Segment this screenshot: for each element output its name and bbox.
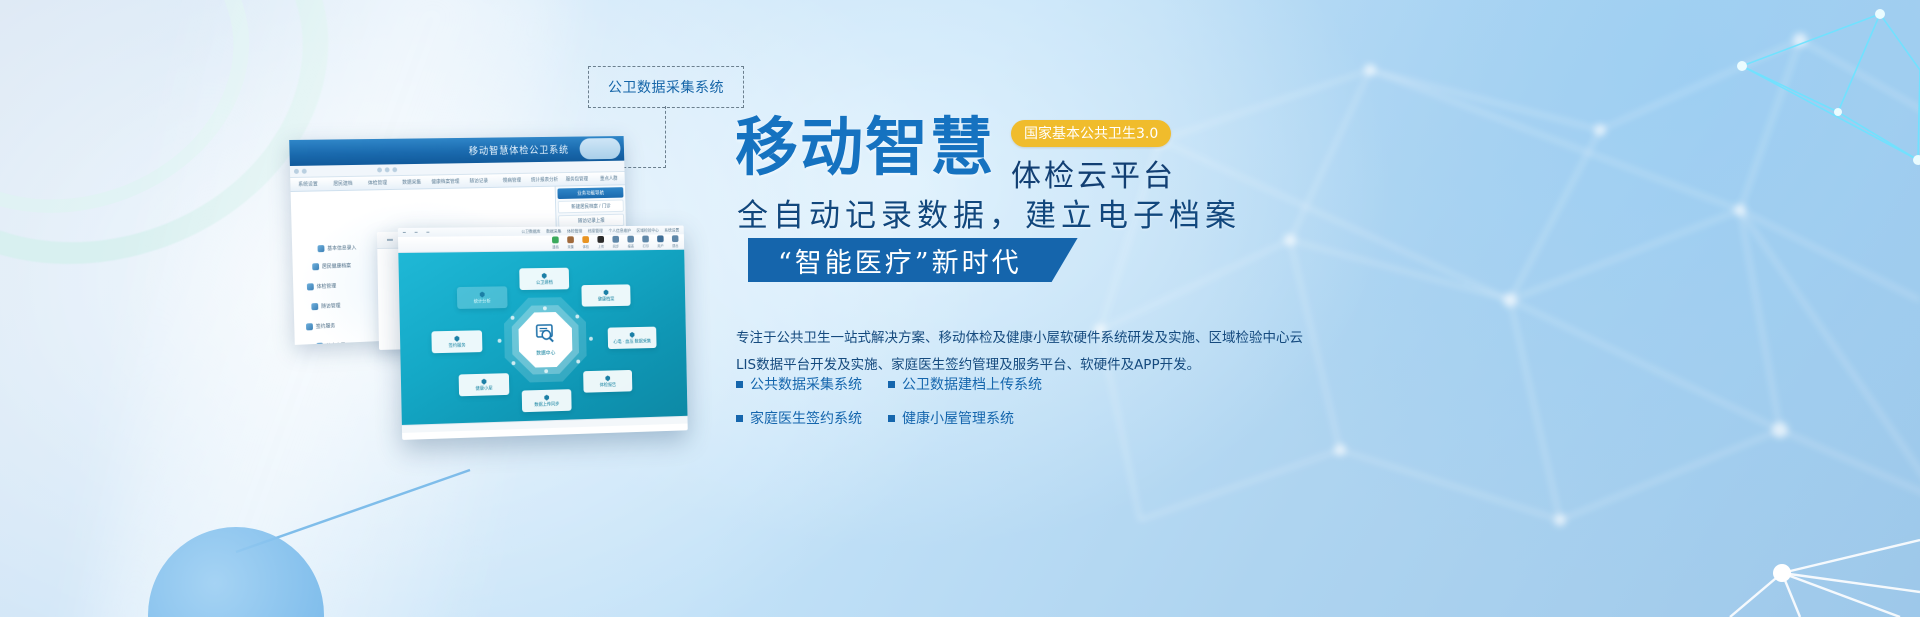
back-menu-item[interactable]: 健康档案管理 <box>429 178 463 185</box>
dashboard-node-label: 健康档案 <box>598 298 615 303</box>
maximize-icon <box>415 232 418 234</box>
dashboard-node-icon <box>604 374 612 382</box>
canvas-item[interactable]: 随访管理 <box>311 302 340 310</box>
dashboard-stage: 数据中心 公卫建档健康档案心电 · 血压 数据采集体检报告数据上传同步健康小屋签… <box>398 250 687 433</box>
bullet-square-icon <box>888 415 895 422</box>
feature-item-label: 健康小屋管理系统 <box>902 408 1014 428</box>
dashboard-spoke-dot <box>589 337 593 341</box>
ribbon-button[interactable]: 用户 <box>657 235 664 248</box>
feature-list: 公共数据采集系统公卫数据建档上传系统家庭医生签约系统健康小屋管理系统 <box>736 374 1076 442</box>
front-tab[interactable]: 公卫数据库 <box>521 228 540 234</box>
dashboard-node[interactable]: 健康小屋 <box>459 373 510 396</box>
headline-sub: 体检云平台 <box>1011 151 1176 195</box>
canvas-item-icon <box>306 323 313 330</box>
back-window-title: 移动智慧体检公卫系统 <box>469 141 570 157</box>
ribbon-button-icon <box>552 236 559 243</box>
ribbon-button-label: 打印 <box>642 243 648 248</box>
front-tab[interactable]: 数据采集 <box>546 228 561 234</box>
minimize-icon <box>403 232 406 234</box>
dashboard-spoke-dot <box>543 306 547 310</box>
ribbon-button-label: 退出 <box>672 243 678 248</box>
dashboard-node-icon <box>540 272 548 280</box>
ribbon-button[interactable]: 上传 <box>597 236 604 249</box>
ribbon-button-icon <box>582 236 589 243</box>
canvas-item-icon <box>307 283 314 290</box>
ribbon-button-icon <box>642 236 649 243</box>
dashboard-spoke-dot <box>512 361 516 365</box>
window-controls[interactable] <box>403 231 430 233</box>
headline-line2: 全自动记录数据，建立电子档案 <box>737 190 1241 235</box>
dashboard-node[interactable]: 签约服务 <box>431 330 482 353</box>
toolbar-dot-icon <box>392 167 397 172</box>
dashboard-node[interactable]: 健康档案 <box>581 285 630 307</box>
front-tab[interactable]: 档案管理 <box>588 228 603 234</box>
toolbar-dot-icon <box>377 167 382 172</box>
ribbon-button[interactable]: 体检 <box>582 236 589 249</box>
ribbon-button-icon <box>567 236 574 243</box>
dashboard-node-label: 公卫建档 <box>536 281 553 286</box>
canvas-item[interactable]: 签约服务 <box>306 322 335 330</box>
dashboard-node-label: 数据上传同步 <box>534 402 559 408</box>
ribbon-button[interactable]: 打印 <box>642 236 649 249</box>
feature-item[interactable]: 公卫数据建档上传系统 <box>888 374 1076 394</box>
toolbar-dot-icon <box>302 169 307 174</box>
ribbon-button[interactable]: 同步 <box>612 236 619 249</box>
back-menu-item[interactable]: 统计报表分析 <box>528 176 561 183</box>
ribbon-button-label: 体检 <box>583 244 589 249</box>
dashboard-node[interactable]: 统计分析 <box>457 286 508 309</box>
headline-main: 移动智慧 <box>735 116 995 179</box>
feature-item[interactable]: 公共数据采集系统 <box>736 374 888 394</box>
back-menu-item[interactable]: 重点人群 <box>593 175 625 182</box>
canvas-item-icon <box>318 245 325 252</box>
bullet-square-icon <box>736 381 743 388</box>
ribbon-button-label: 同步 <box>613 244 619 249</box>
ribbon-button-icon <box>612 236 619 243</box>
canvas-item-label: 居民健康档案 <box>322 262 351 270</box>
canvas-item-label: 签约服务 <box>316 322 336 330</box>
ribbon-button-label: 用户 <box>657 243 663 248</box>
dashboard-node-label: 健康小屋 <box>476 386 493 391</box>
canvas-item-label: 体检管理 <box>317 282 337 290</box>
dashboard-spoke-dot <box>576 359 580 363</box>
front-window-statusbar <box>402 416 688 433</box>
dashboard-spoke-dot <box>544 369 548 373</box>
canvas-item-label: 随访管理 <box>321 302 341 310</box>
back-menu-item[interactable]: 系统设置 <box>290 180 325 188</box>
dashboard-node[interactable]: 心电 · 血压 数据采集 <box>608 327 657 349</box>
canvas-item-label: 基本信息录入 <box>327 244 356 252</box>
ribbon-banner: “智能医疗”新时代 <box>748 238 1078 282</box>
front-window-tabs[interactable]: 公卫数据库数据采集体检管理档案管理个人信息维护区域检验中心系统设置 <box>521 227 679 234</box>
feature-item-label: 公卫数据建档上传系统 <box>902 374 1042 394</box>
dashboard-node[interactable]: 数据上传同步 <box>522 389 572 412</box>
dashboard-node[interactable]: 体检报告 <box>583 370 632 393</box>
side-panel-header-label: 业务功能导航 <box>577 189 604 196</box>
canvas-item-icon <box>311 303 318 310</box>
ribbon-button-icon <box>657 235 664 242</box>
back-window-avatar <box>579 138 620 159</box>
callout-label: 公卫数据采集系统 <box>608 77 724 97</box>
ribbon-button-label: 上传 <box>598 244 604 249</box>
front-tab[interactable]: 系统设置 <box>664 227 679 233</box>
ribbon-button-label: 建档 <box>552 244 559 249</box>
screenshot-front-window: 公卫数据库数据采集体检管理档案管理个人信息维护区域检验中心系统设置 建档采集体检… <box>398 226 688 440</box>
minimize-icon <box>387 239 393 241</box>
ribbon-button-icon <box>597 236 604 243</box>
feature-item[interactable]: 健康小屋管理系统 <box>888 408 1076 428</box>
ribbon-button-icon <box>627 236 634 243</box>
canvas-item[interactable]: 居民健康档案 <box>312 262 351 270</box>
dashboard-node-icon <box>480 378 488 386</box>
ribbon-button-label: 采集 <box>567 244 574 249</box>
front-tab[interactable]: 个人信息维护 <box>608 227 631 233</box>
bullet-square-icon <box>888 381 895 388</box>
ribbon-button[interactable]: 退出 <box>672 235 679 248</box>
canvas-item[interactable]: 基本信息录入 <box>318 244 357 252</box>
side-panel-row-label: 随访记录上报 <box>578 217 605 224</box>
ribbon-button[interactable]: 建档 <box>552 236 559 249</box>
back-menu-item[interactable]: 数据采集 <box>395 178 429 186</box>
ribbon-button-label: 报表 <box>628 243 634 248</box>
dashboard-spoke-dot <box>498 339 502 343</box>
back-menu-item[interactable]: 居民建档 <box>325 180 360 188</box>
side-panel-row-label: 新建居民档案 / 门诊 <box>571 203 610 211</box>
bullet-square-icon <box>736 415 743 422</box>
front-tab[interactable]: 区域检验中心 <box>636 227 658 233</box>
headline-right-group: 国家基本公共卫生3.0 体检云平台 <box>1011 116 1176 195</box>
ribbon-button[interactable]: 报表 <box>627 236 634 249</box>
feature-item-label: 家庭医生签约系统 <box>750 408 862 428</box>
network-mesh-decoration <box>1040 0 1920 617</box>
status-badge: 国家基本公共卫生3.0 <box>1011 120 1171 147</box>
ribbon-button-icon <box>672 235 679 242</box>
hub-label: 数据中心 <box>536 350 555 357</box>
canvas-item-icon <box>312 263 319 270</box>
dashboard-node-label: 统计分析 <box>474 300 491 305</box>
back-menu-item[interactable]: 体检管理 <box>360 179 395 187</box>
ribbon-button[interactable]: 采集 <box>567 236 574 249</box>
description-text: 专注于公共卫生一站式解决方案、移动体检及健康小屋软硬件系统研发及实施、区域检验中… <box>736 325 1312 379</box>
dashboard-node-label: 心电 · 血压 数据采集 <box>613 339 651 345</box>
ribbon-label: “智能医疗”新时代 <box>778 241 1022 280</box>
headline-group: 移动智慧 国家基本公共卫生3.0 体检云平台 <box>735 116 1176 195</box>
toolbar-dot-icon <box>294 169 299 174</box>
dashboard-node-label: 体检报告 <box>600 383 617 388</box>
data-search-icon <box>535 323 556 343</box>
dashboard-node[interactable]: 公卫建档 <box>519 268 569 290</box>
side-panel-row[interactable]: 新建居民档案 / 门诊 <box>558 199 624 213</box>
back-menu-item[interactable]: 随访记录 <box>462 177 495 184</box>
back-menu-item[interactable]: 慢病管理 <box>495 177 528 184</box>
callout-box: 公卫数据采集系统 <box>588 66 744 108</box>
toolbar-dot-icon <box>385 167 390 172</box>
back-menu-item[interactable]: 服务包管理 <box>561 175 593 182</box>
canvas-item[interactable]: 体检管理 <box>307 282 336 290</box>
close-icon <box>426 231 429 233</box>
hero-banner: 公卫数据采集系统 移动智慧体检公卫系统 系统设置居民建档体检管理数据采集健康档案… <box>0 0 1920 617</box>
dashboard-node-label: 签约服务 <box>448 344 465 349</box>
front-tab[interactable]: 体检管理 <box>567 228 582 234</box>
callout-leader-vertical <box>665 106 666 168</box>
side-panel-header: 业务功能导航 <box>557 187 623 199</box>
feature-item[interactable]: 家庭医生签约系统 <box>736 408 888 428</box>
feature-item-label: 公共数据采集系统 <box>750 374 862 394</box>
